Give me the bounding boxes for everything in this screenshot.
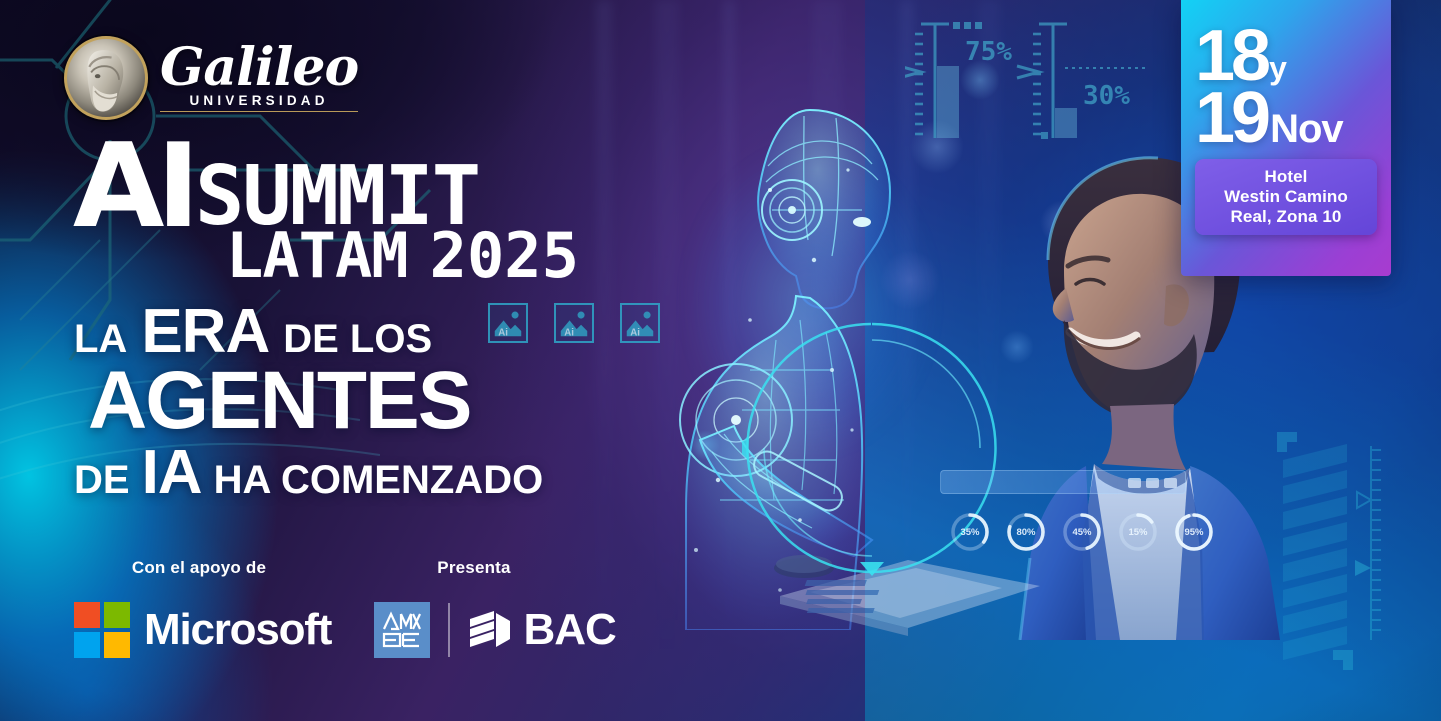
title-latam: LATAM bbox=[226, 229, 408, 282]
date-day-2: 19 bbox=[1195, 90, 1267, 148]
svg-text:Ai: Ai bbox=[630, 327, 640, 338]
title-ai: AI bbox=[73, 138, 192, 235]
bac-wordmark: BAC bbox=[524, 605, 616, 655]
venue-line-2: Westin Camino bbox=[1201, 187, 1371, 207]
brand-subtitle: UNIVERSIDAD bbox=[160, 93, 358, 112]
sponsor-support-col: Con el apoyo de Microsoft bbox=[74, 558, 374, 658]
event-banner: 75% 30% bbox=[0, 0, 1441, 721]
tagline-de: DE bbox=[74, 458, 130, 503]
microsoft-square-green bbox=[104, 602, 130, 628]
microsoft-squares bbox=[74, 602, 130, 658]
microsoft-logo[interactable]: Microsoft bbox=[74, 602, 331, 658]
date-row-first: 18 y bbox=[1195, 28, 1377, 86]
event-title: AI SUMMIT LATAM 2025 bbox=[74, 138, 579, 283]
galileo-logo[interactable]: Galileo UNIVERSIDAD bbox=[64, 36, 358, 120]
tagline-ha-comenzado: HA COMENZADO bbox=[214, 458, 544, 503]
event-tagline: LA ERA DE LOS AGENTES DE IA HA COMENZADO bbox=[74, 296, 543, 508]
bac-logo[interactable]: BAC bbox=[468, 605, 616, 655]
venue-line-1: Hotel bbox=[1201, 167, 1371, 187]
date-day-1: 18 bbox=[1195, 28, 1267, 86]
microsoft-square-red bbox=[74, 602, 100, 628]
sponsor-divider bbox=[448, 603, 450, 657]
ai-image-icon: Ai bbox=[620, 303, 660, 343]
date-month: Nov bbox=[1270, 111, 1343, 147]
amex-logo[interactable] bbox=[374, 602, 430, 658]
bac-mark-icon bbox=[468, 609, 514, 651]
microsoft-square-blue bbox=[74, 632, 100, 658]
sponsor-presents-col: Presenta bbox=[374, 558, 634, 658]
svg-text:Ai: Ai bbox=[564, 327, 574, 338]
sponsors-section: Con el apoyo de Microsoft Presenta bbox=[74, 558, 634, 658]
tagline-agentes: AGENTES bbox=[88, 361, 470, 441]
venue-line-3: Real, Zona 10 bbox=[1201, 207, 1371, 227]
microsoft-wordmark: Microsoft bbox=[144, 605, 331, 655]
tagline-ia: IA bbox=[142, 437, 202, 508]
sponsor-support-label: Con el apoyo de bbox=[74, 558, 324, 578]
microsoft-square-yellow bbox=[104, 632, 130, 658]
brand-name: Galileo bbox=[160, 44, 358, 92]
date-conjunction: y bbox=[1269, 52, 1287, 84]
galileo-wordmark: Galileo UNIVERSIDAD bbox=[160, 44, 358, 112]
title-year: 2025 bbox=[430, 229, 579, 282]
date-row-second: 19 Nov bbox=[1195, 90, 1377, 148]
venue-badge[interactable]: Hotel Westin Camino Real, Zona 10 bbox=[1195, 159, 1377, 235]
sponsor-presents-label: Presenta bbox=[374, 558, 574, 578]
date-panel: 18 y 19 Nov Hotel Westin Camino Real, Zo… bbox=[1181, 0, 1391, 276]
galileo-bust-medallion bbox=[64, 36, 148, 120]
ai-image-icon: Ai bbox=[554, 303, 594, 343]
